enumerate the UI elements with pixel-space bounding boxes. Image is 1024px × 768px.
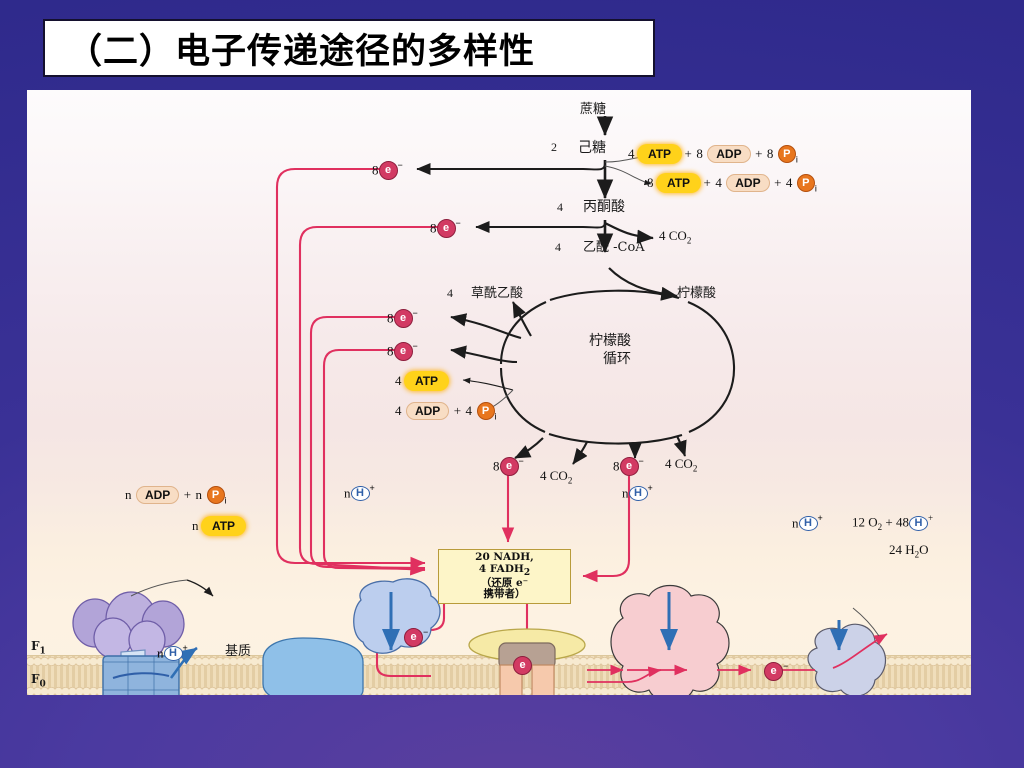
pi-badge-1: P xyxy=(778,145,796,163)
synthase-plus: + xyxy=(184,487,191,502)
cycle-atp-count: 4 xyxy=(395,373,402,388)
electron-icon-3: e xyxy=(394,309,413,328)
electron-icon-1: e xyxy=(379,161,398,180)
electron-carrier-2: 8e− xyxy=(430,218,461,238)
proton-icon-7: H xyxy=(799,516,818,531)
proton-label-f0-out: nH+ xyxy=(157,643,188,662)
respiration-diagram-panel: 蔗糖 2 己糖 4 丙酮酸 4 乙酰 -CoA 4 CO2 4 ATP + 8 … xyxy=(27,90,971,695)
proton-label-c1-top: nH+ xyxy=(344,483,375,502)
synthase-atp-prefix: n xyxy=(192,518,199,533)
pi-count-1: 8 xyxy=(767,146,774,161)
cycle-name-line1: 柠檬酸 xyxy=(589,330,631,350)
label-f1-subunit: F1 xyxy=(31,639,46,656)
atp-count-1: 4 xyxy=(628,146,635,161)
proton-icon-1: H xyxy=(164,646,183,661)
f1-text: F xyxy=(31,639,40,653)
electron-carrier-6: 8e− xyxy=(613,456,644,476)
adp-count-1: 8 xyxy=(696,146,703,161)
page-title: （二）电子传递途径的多样性 xyxy=(45,23,535,74)
o2-text: O xyxy=(868,514,877,529)
water-text: 24 H xyxy=(889,542,915,557)
slide-title-box: （二）电子传递途径的多样性 xyxy=(43,19,655,77)
fadh2-text: 4 FADH xyxy=(479,563,524,575)
f0-text: F xyxy=(31,672,40,686)
o2-count: 12 xyxy=(852,514,865,529)
electron-carrier-3: 8e− xyxy=(387,308,418,328)
synthase-atp-badge: ATP xyxy=(203,518,244,534)
pi-count-2: 4 xyxy=(786,175,793,190)
label-hexose-count: 2 xyxy=(551,140,557,155)
e-count-1: 8 xyxy=(372,162,379,177)
cycle-pi-count: 4 xyxy=(466,403,473,418)
membrane-electron-marker-1: e− xyxy=(404,627,428,647)
electron-icon-membrane-2: e xyxy=(513,656,532,675)
synthase-adp-badge: ADP xyxy=(136,486,179,504)
synthase-substrates: n ADP + n Pi xyxy=(125,486,227,505)
co2-subscript: 2 xyxy=(687,236,692,246)
proton-icon-5: H xyxy=(629,486,648,501)
e-charge-5: − xyxy=(519,456,524,466)
cycle-co2-left: 4 CO2 xyxy=(540,468,572,486)
proton-label-c3-top: nH+ xyxy=(622,483,653,502)
oxygen-plus: + xyxy=(885,514,892,529)
electron-icon-membrane-3: e xyxy=(764,662,783,681)
pi-sub-2: i xyxy=(815,183,817,193)
cycle-adp-badge: ADP xyxy=(406,402,449,420)
electron-carrier-4: 8e− xyxy=(387,341,418,361)
h-prefix-5: n xyxy=(622,485,629,500)
e-charge-2: − xyxy=(456,218,461,228)
label-acetyl-count: 4 xyxy=(555,240,561,255)
cycle-pi-sub: i xyxy=(495,411,497,421)
h-charge-ox: + xyxy=(928,513,933,523)
cycle-co2-left-sub: 2 xyxy=(568,476,573,486)
cycle-co2-right-sub: 2 xyxy=(693,464,698,474)
electron-icon-6: e xyxy=(620,457,639,476)
reduced-carriers-box: 20 NADH, 4 FADH2 （还原 e⁻ 携带者） xyxy=(438,549,571,604)
oxygen-reactants: 12 O2 + 48H+ xyxy=(852,513,933,532)
membrane-electron-marker-3: e− xyxy=(764,661,788,681)
proton-label-c4-top: nH+ xyxy=(792,513,823,532)
e-count-6: 8 xyxy=(613,458,620,473)
diagram-vector-layer xyxy=(27,90,971,695)
h-charge-1: + xyxy=(183,643,188,653)
synthase-pi-badge: P xyxy=(207,486,225,504)
cycle-atp-badge: ATP xyxy=(406,373,447,389)
e-count-3: 8 xyxy=(387,310,394,325)
e-charge-1: − xyxy=(398,160,403,170)
cycle-co2-left-text: 4 CO xyxy=(540,468,568,483)
cycle-atp-row: 4 ATP xyxy=(395,372,447,390)
adp-badge-1: ADP xyxy=(707,145,750,163)
cycle-adp-count: 4 xyxy=(395,403,402,418)
cycle-co2-right: 4 CO2 xyxy=(665,456,697,474)
atp-synthesis-arrow xyxy=(131,580,213,596)
nadh-line-2: 4 FADH2 xyxy=(479,564,530,578)
plus-1a: + xyxy=(685,146,692,161)
proton-icon-oxygen: H xyxy=(909,516,928,531)
adp-badge-2: ADP xyxy=(726,174,769,192)
h-prefix-7: n xyxy=(792,515,799,530)
cycle-pi-badge: P xyxy=(477,402,495,420)
h-charge-5: + xyxy=(648,483,653,493)
proton-icon-3: H xyxy=(351,486,370,501)
o2-sub: 2 xyxy=(878,522,883,532)
e-charge-6: − xyxy=(639,456,644,466)
f0-sub: 0 xyxy=(40,679,46,689)
atp-badge-1: ATP xyxy=(639,146,680,162)
label-sucrose: 蔗糖 xyxy=(580,98,606,117)
e-charge-m1: − xyxy=(423,627,428,637)
e-count-2: 8 xyxy=(430,220,437,235)
label-acetyl-coa: 乙酰 -CoA xyxy=(583,236,645,255)
electron-carrier-5: 8e− xyxy=(493,456,524,476)
h-prefix-3: n xyxy=(344,485,351,500)
e-charge-m3: − xyxy=(783,661,788,671)
label-matrix: 基质 xyxy=(225,640,251,659)
label-pyruvate-count: 4 xyxy=(557,200,563,215)
pi-badge-2: P xyxy=(797,174,815,192)
label-pyruvate: 丙酮酸 xyxy=(583,196,625,216)
pi-sub-1: i xyxy=(796,154,798,164)
cycle-name-line2: 循环 xyxy=(603,348,631,368)
atp-badge-2: ATP xyxy=(658,175,699,191)
glycolysis-yield-row-1: 4 ATP + 8 ADP + 8 Pi xyxy=(628,145,798,164)
e-count-5: 8 xyxy=(493,458,500,473)
e-charge-3: − xyxy=(413,308,418,318)
membrane-electron-marker-2: e xyxy=(513,656,532,675)
cycle-co2-right-text: 4 CO xyxy=(665,456,693,471)
label-oxaloacetate: 草酰乙酸 xyxy=(471,282,523,301)
e-count-4: 8 xyxy=(387,343,394,358)
h-charge-7: + xyxy=(818,513,823,523)
adp-count-2: 4 xyxy=(715,175,722,190)
electron-carrier-1: 8e− xyxy=(372,160,403,180)
synthase-pi-prefix: n xyxy=(196,487,203,502)
co2-text: 4 CO xyxy=(659,228,687,243)
label-co2-pyruvate: 4 CO2 xyxy=(659,228,691,246)
h-prefix-1: n xyxy=(157,645,164,660)
plus-2a: + xyxy=(704,175,711,190)
electron-icon-4: e xyxy=(394,342,413,361)
label-hexose: 己糖 xyxy=(578,137,606,157)
synthase-pi-sub: i xyxy=(225,495,227,505)
cycle-adp-row: 4 ADP + 4 Pi xyxy=(395,402,497,421)
plus-2b: + xyxy=(774,175,781,190)
glycolysis-yield-row-2: 8 ATP + 4 ADP + 4 Pi xyxy=(647,174,817,193)
electron-icon-membrane-1: e xyxy=(404,628,423,647)
synthase-product-atp: n ATP xyxy=(192,517,244,535)
plus-1b: + xyxy=(755,146,762,161)
e-charge-4: − xyxy=(413,341,418,351)
water-o: O xyxy=(919,542,928,557)
label-citrate: 柠檬酸 xyxy=(677,282,716,301)
label-f0-subunit: F0 xyxy=(31,672,46,689)
electron-icon-5: e xyxy=(500,457,519,476)
electron-icon-2: e xyxy=(437,219,456,238)
f1-sub: 1 xyxy=(40,646,46,656)
h-count-ox: 48 xyxy=(896,514,909,529)
water-product: 24 H2O xyxy=(889,542,929,560)
label-oxaloacetate-count: 4 xyxy=(447,286,453,301)
atp-count-2: 8 xyxy=(647,175,654,190)
cycle-plus: + xyxy=(454,403,461,418)
h-charge-3: + xyxy=(370,483,375,493)
synthase-adp-prefix: n xyxy=(125,487,132,502)
glycolysis-arrows xyxy=(417,116,677,296)
complex-iv-protein xyxy=(808,624,886,695)
slide-root: （二）电子传递途径的多样性 xyxy=(0,0,1024,768)
nadh-line-4: 携带者） xyxy=(484,589,526,601)
